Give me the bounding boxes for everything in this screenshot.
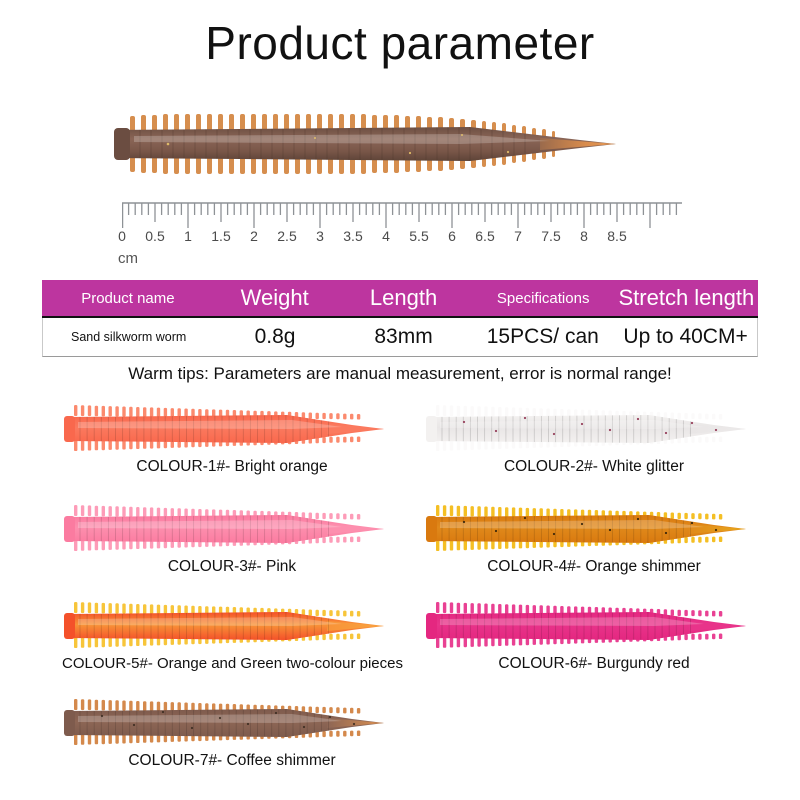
lure-head <box>64 516 75 542</box>
specification-table: Product name Weight Length Specification… <box>42 280 758 357</box>
ruler-tick-0: 0 <box>118 228 126 244</box>
page-title: Product parameter <box>0 16 800 70</box>
ruler-tick-labels: 00.511.522.533.545.566.577.588.5 <box>122 228 682 248</box>
hero-lure-svg <box>110 108 650 180</box>
ruler-tick-2-5: 2.5 <box>277 228 296 244</box>
ruler-tick-1: 1 <box>184 228 192 244</box>
ruler-unit-label: cm <box>118 250 138 267</box>
colour-2-image <box>424 400 764 458</box>
colour-variant-1[interactable]: COLOUR-1#- Bright orange <box>62 400 402 492</box>
colour-lure-svg <box>62 400 402 458</box>
colour-variant-3[interactable]: COLOUR-3#- Pink <box>62 500 402 592</box>
table-header-product-name: Product name <box>42 290 214 307</box>
lure-head <box>426 613 437 639</box>
colour-6-label: COLOUR-6#- Burgundy red <box>424 655 764 673</box>
colour-variant-2[interactable]: COLOUR-2#- White glitter <box>424 400 764 492</box>
ruler-tick-5-5: 5.5 <box>409 228 428 244</box>
colour-4-image <box>424 500 764 558</box>
table-header-weight: Weight <box>214 285 336 311</box>
table-data-row: Sand silkworm worm 0.8g 83mm 15PCS/ can … <box>42 318 758 357</box>
hero-lure-head <box>114 128 130 160</box>
colour-7-image <box>62 694 402 752</box>
table-header-specifications: Specifications <box>472 290 615 307</box>
colour-variant-5[interactable]: COLOUR-5#- Orange and Green two-colour p… <box>62 597 402 689</box>
ruler-tick-7: 7 <box>514 228 522 244</box>
lure-head <box>64 613 75 639</box>
table-cell-length: 83mm <box>336 325 472 349</box>
colour-lure-svg <box>62 597 402 655</box>
colour-1-image <box>62 400 402 458</box>
ruler-tick-6-5: 6.5 <box>475 228 494 244</box>
table-cell-specifications: 15PCS/ can <box>471 325 614 349</box>
colour-lure-svg <box>424 400 764 458</box>
lure-head <box>426 416 437 442</box>
table-header-row: Product name Weight Length Specification… <box>42 280 758 318</box>
lure-head <box>426 516 437 542</box>
colour-lure-svg <box>424 597 764 655</box>
colour-variant-7[interactable]: COLOUR-7#- Coffee shimmer <box>62 694 402 786</box>
colour-variant-4[interactable]: COLOUR-4#- Orange shimmer <box>424 500 764 592</box>
ruler-ticks <box>123 203 677 228</box>
colour-5-label: COLOUR-5#- Orange and Green two-colour p… <box>62 655 402 672</box>
ruler-tick-8-5: 8.5 <box>607 228 626 244</box>
colour-1-label: COLOUR-1#- Bright orange <box>62 458 402 476</box>
table-cell-weight: 0.8g <box>214 325 335 349</box>
colour-variant-6[interactable]: COLOUR-6#- Burgundy red <box>424 597 764 689</box>
table-header-stretch-length: Stretch length <box>615 285 758 311</box>
colour-5-image <box>62 597 402 655</box>
warm-tips-note: Warm tips: Parameters are manual measure… <box>0 364 800 384</box>
ruler-tick-7-5: 7.5 <box>541 228 560 244</box>
table-cell-stretch-length: Up to 40CM+ <box>614 325 757 349</box>
colour-2-label: COLOUR-2#- White glitter <box>424 458 764 476</box>
colour-3-label: COLOUR-3#- Pink <box>62 558 402 576</box>
colour-lure-svg <box>424 500 764 558</box>
ruler-tick-3-5: 3.5 <box>343 228 362 244</box>
ruler-tick-0-5: 0.5 <box>145 228 164 244</box>
ruler-tick-8: 8 <box>580 228 588 244</box>
colour-lure-svg <box>62 694 402 752</box>
colour-lure-svg <box>62 500 402 558</box>
lure-head <box>64 710 75 736</box>
ruler-tick-4: 4 <box>382 228 390 244</box>
ruler-tick-1-5: 1.5 <box>211 228 230 244</box>
colour-6-image <box>424 597 764 655</box>
ruler-tick-3: 3 <box>316 228 324 244</box>
table-header-length: Length <box>336 285 472 311</box>
colour-7-label: COLOUR-7#- Coffee shimmer <box>62 752 402 770</box>
hero-product-image <box>110 108 650 180</box>
lure-head <box>64 416 75 442</box>
colour-3-image <box>62 500 402 558</box>
ruler-tick-2: 2 <box>250 228 258 244</box>
ruler-tick-6: 6 <box>448 228 456 244</box>
colour-4-label: COLOUR-4#- Orange shimmer <box>424 558 764 576</box>
table-cell-product-name: Sand silkworm worm <box>43 330 214 344</box>
